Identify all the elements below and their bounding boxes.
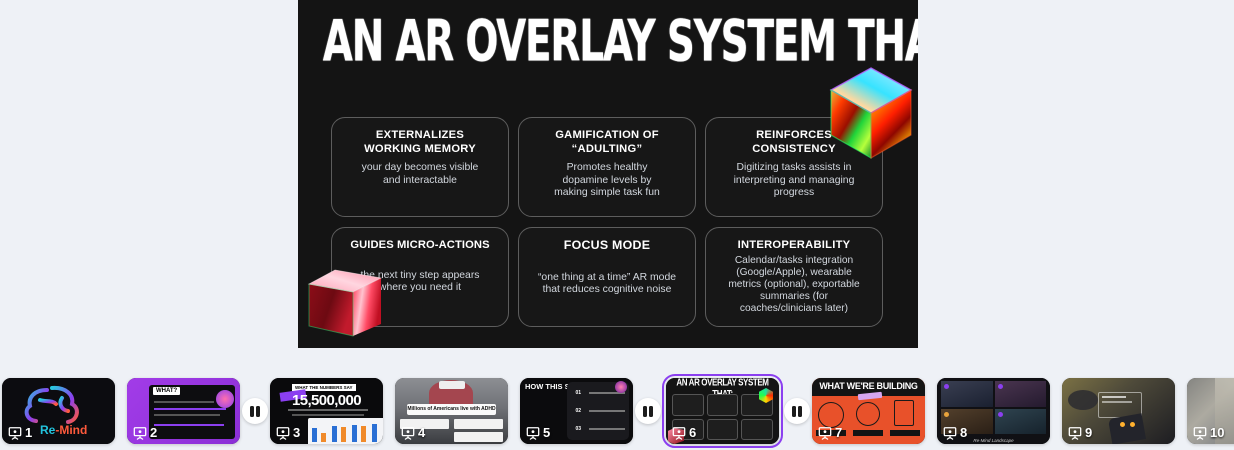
thumbnail-number: 8 [943,425,967,440]
thumbnail-number: 7 [818,425,842,440]
feature-card-body: Promotes healthy dopamine levels by maki… [554,162,660,200]
thumbnail-slot[interactable]: 10 [1187,378,1234,444]
slide-thumbnail-8[interactable]: Re-Mind Landscape 8 [937,378,1050,444]
feature-card-body: Calendar/tasks integration (Google/Apple… [728,255,859,315]
feature-card-body: the next tiny step appears where you nee… [361,270,480,295]
thumb-list-item: 01 [575,390,581,396]
thumbnail-number: 3 [276,425,300,440]
presentation-screen-icon [943,426,957,440]
thumbnail-number-text: 3 [293,425,300,440]
section-divider-badge[interactable] [242,398,268,424]
thumbnail-number-text: 9 [1085,425,1092,440]
thumbnail-number-text: 5 [543,425,550,440]
slide-thumbnail-4[interactable]: Millions of Americans live with ADHD 4 [395,378,508,444]
slide-thumbnail-9[interactable]: 9 [1062,378,1175,444]
thumbnail-number-text: 6 [689,425,696,440]
section-divider-badge[interactable] [784,398,810,424]
thumb-list-item: 03 [575,426,581,432]
presentation-screen-icon [133,426,147,440]
thumbnail-slot[interactable]: HOW THIS SHOWS UP 01 02 03 [520,378,633,444]
slide-thumbnail-5[interactable]: HOW THIS SHOWS UP 01 02 03 [520,378,633,444]
presentation-screen-icon [818,426,832,440]
presentation-screen-icon [1193,426,1207,440]
feature-card-body: Digitizing tasks assists in interpreting… [734,162,855,200]
thumb-label: WHAT? [153,387,180,395]
thumbnail-number: 10 [1193,425,1224,440]
thumb-label: Millions of Americans live with ADHD [395,406,508,412]
feature-card[interactable]: GUIDES MICRO-ACTIONS the next tiny step … [331,227,509,327]
thumbnail-slot[interactable]: 9 [1062,378,1175,444]
feature-cards-grid: EXTERNALIZES WORKING MEMORY your day bec… [331,117,885,327]
presentation-screen-icon [8,426,22,440]
thumb-label: WHAT WE'RE BUILDING [812,381,925,391]
feature-card-title: INTEROPERABILITY [738,239,851,253]
feature-card[interactable]: FOCUS MODE “one thing at a time” AR mode… [518,227,696,327]
feature-card-title: GAMIFICATION OF “ADULTING” [555,129,659,156]
thumbnail-number-text: 7 [835,425,842,440]
feature-card-title: REINFORCES CONSISTENCY [752,129,836,156]
thumbnail-number: 4 [401,425,425,440]
thumbnail-slot[interactable]: AN AR OVERLAY SYSTEM THAT: [666,378,779,444]
thumbnail-number-text: 4 [418,425,425,440]
thumbnail-slot[interactable]: WHAT? 2 [127,378,240,444]
slide-canvas[interactable]: AN AR OVERLAY SYSTEM THAT: [298,0,918,348]
thumbnail-number-text: 8 [960,425,967,440]
feature-card[interactable]: EXTERNALIZES WORKING MEMORY your day bec… [331,117,509,217]
section-divider-icon [250,406,260,417]
presentation-screen-icon [1068,426,1082,440]
thumbnail-slot[interactable]: WHAT WE'RE BUILDING 7 [812,378,925,444]
thumbnail-number: 5 [526,425,550,440]
thumbnail-slot[interactable]: WHAT THE NUMBERS SAY 15,500,000 [270,378,383,444]
section-divider-badge[interactable] [635,398,661,424]
thumbnail-number-text: 1 [25,425,32,440]
slide-thumbnail-7[interactable]: WHAT WE'RE BUILDING 7 [812,378,925,444]
presentation-screen-icon [401,426,415,440]
presentation-screen-icon [526,426,540,440]
feature-card[interactable]: REINFORCES CONSISTENCY Digitizing tasks … [705,117,883,217]
presentation-editor: AN AR OVERLAY SYSTEM THAT: [0,0,1234,450]
slide-thumbnail-2[interactable]: WHAT? 2 [127,378,240,444]
feature-card[interactable]: GAMIFICATION OF “ADULTING” Promotes heal… [518,117,696,217]
slide-thumbnail-3[interactable]: WHAT THE NUMBERS SAY 15,500,000 [270,378,383,444]
thumbnail-slot[interactable]: Re-Mind Landscape 8 [937,378,1050,444]
feature-card-body: “one thing at a time” AR mode that reduc… [538,272,676,297]
slide-thumbnail-6[interactable]: AN AR OVERLAY SYSTEM THAT: [666,378,779,444]
slide-thumbnail-1[interactable]: Re-Mind 1 [2,378,115,444]
slide-title: AN AR OVERLAY SYSTEM THAT: [323,8,893,75]
thumbnail-number: 9 [1068,425,1092,440]
thumbnail-number: 2 [133,425,157,440]
thumbnail-number: 6 [672,425,696,440]
slide-thumbnail-10[interactable]: 10 [1187,378,1234,444]
thumb-brand-suffix: -Mind [55,423,87,437]
section-divider-icon [792,406,802,417]
slide-thumbnail-filmstrip[interactable]: Re-Mind 1 WHAT? [0,372,1234,450]
feature-card-body: your day becomes visible and interactabl… [362,162,479,187]
thumbnail-number-text: 10 [1210,425,1224,440]
feature-card-title: EXTERNALIZES WORKING MEMORY [364,129,476,156]
section-divider-icon [643,406,653,417]
presentation-screen-icon [672,426,686,440]
feature-card-title: GUIDES MICRO-ACTIONS [350,239,489,253]
thumb-brand-prefix: Re [40,423,55,437]
thumbnail-number: 1 [8,425,32,440]
presentation-screen-icon [276,426,290,440]
feature-card[interactable]: INTEROPERABILITY Calendar/tasks integrat… [705,227,883,327]
thumbnail-slot[interactable]: Millions of Americans live with ADHD 4 [395,378,508,444]
thumbnail-number-text: 2 [150,425,157,440]
thumb-list-item: 02 [575,408,581,414]
thumbnail-slot[interactable]: Re-Mind 1 [2,378,115,444]
feature-card-title: FOCUS MODE [564,239,650,253]
thumb-stat: 15,500,000 [270,392,383,409]
